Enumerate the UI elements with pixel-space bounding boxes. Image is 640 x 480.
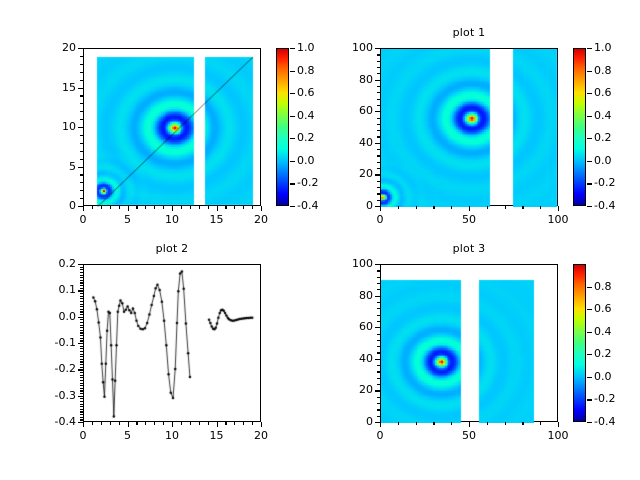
plot-3-image [381,265,559,423]
colorbar-tick [587,354,592,355]
plot-xtick-label: 5 [108,429,148,442]
plot-xtick-minor [83,422,84,425]
plot-ytick-minor [80,314,83,315]
colorbar-tick-label: 0.4 [297,109,315,122]
plot-ytick-minor [80,419,83,420]
plot-ytick-minor [377,384,380,385]
plot-ytick-minor [80,414,83,415]
plot-ytick-minor [80,159,83,160]
colorbar-tick [587,116,592,117]
plot-ytick-minor [80,280,83,281]
colorbar-tick [587,287,592,288]
colorbar-tick-label: 0.2 [594,347,612,360]
plot-ytick-minor [80,372,83,373]
plot-ytick-label: 0.0 [33,310,76,323]
plot-xtick-minor [252,206,253,209]
plot-ytick-minor [80,290,83,291]
colorbar-tick [587,422,592,423]
plot-1-colorbar[interactable] [573,48,586,206]
plot-ytick-minor [80,351,83,352]
plot-ytick-minor [80,375,83,376]
plot-xtick-minor [398,422,399,425]
plot-xtick-minor [163,206,164,209]
plot-ytick-minor [80,311,83,312]
colorbar-tick [587,183,592,184]
plot-xtick-minor [181,422,182,425]
plot-xtick-label: 10 [152,429,192,442]
plot-xtick-minor [261,422,262,425]
plot-ytick-label: 15 [33,81,76,94]
plot-xtick-label: 50 [449,429,489,442]
plot-ytick-label: 0.1 [33,283,76,296]
plot-ytick-minor [80,301,83,302]
plot-xtick-minor [416,422,417,425]
plot-xtick-minor [451,206,452,209]
colorbar-tick [290,48,295,49]
plot-ytick-label: -0.3 [33,389,76,402]
plot-1-axes[interactable] [380,48,558,206]
plot-ytick-minor [80,306,83,307]
plot-0-colorbar[interactable] [276,48,289,206]
plot-xtick-minor [433,422,434,425]
colorbar-tick-label: 0.6 [297,86,315,99]
plot-ytick-minor [80,88,83,89]
plot-3-axes[interactable] [380,264,558,422]
plot-xtick-minor [487,422,488,425]
plot-xtick-label: 15 [197,213,237,226]
colorbar-tick-label: -0.4 [297,199,318,212]
plot-ytick-minor [80,103,83,104]
plot-xtick-minor [234,422,235,425]
plot-xtick-minor [128,422,129,425]
plot-xtick-label: 0 [360,429,400,442]
plot-ytick-minor [377,289,380,290]
plot-2-title: plot 2 [83,242,261,255]
plot-ytick-label: 20 [330,383,373,396]
colorbar-tick [587,93,592,94]
figure-canvas: 0510152005101520 -0.4-0.20.00.20.40.60.8… [0,0,640,480]
plot-ytick-label: 0 [330,199,373,212]
plot-ytick-minor [377,118,380,119]
plot-xtick-label: 20 [241,429,281,442]
plot-ytick-label: 80 [330,73,373,86]
plot-xtick-minor [199,206,200,209]
plot-ytick-minor [377,327,380,328]
plot-ytick-minor [377,390,380,391]
plot-ytick-minor [80,288,83,289]
plot-ytick-minor [80,275,83,276]
plot-ytick-minor [80,198,83,199]
plot-ytick-minor [80,317,83,318]
colorbar-tick-label: 0.8 [594,280,612,293]
plot-ytick-minor [377,80,380,81]
plot-ytick-label: 0 [33,199,76,212]
plot-ytick-minor [80,367,83,368]
plot-ytick-minor [377,403,380,404]
plot-ytick-minor [377,155,380,156]
plot-xtick-minor [505,206,506,209]
colorbar-tick-label: -0.2 [594,392,615,405]
plot-xtick-minor [243,206,244,209]
plot-xtick-label: 20 [241,213,281,226]
plot-ytick-minor [377,193,380,194]
plot-xtick-minor [558,422,559,425]
plot-ytick-minor [80,309,83,310]
plot-ytick-minor [80,340,83,341]
plot-ytick-minor [80,422,83,423]
plot-ytick-minor [377,270,380,271]
plot-ytick-minor [377,174,380,175]
colorbar-tick-label: -0.2 [594,176,615,189]
plot-xtick-minor [225,206,226,209]
plot-ytick-minor [377,422,380,423]
colorbar-tick-label: 0.6 [594,86,612,99]
colorbar-tick [290,138,295,139]
plot-xtick-label: 15 [197,429,237,442]
plot-xtick-minor [190,422,191,425]
plot-xtick-minor [243,422,244,425]
plot-xtick-minor [136,206,137,209]
plot-ytick-minor [377,136,380,137]
plot-xtick-minor [469,206,470,209]
colorbar-tick-label: 0.0 [594,370,612,383]
plot-xtick-minor [190,206,191,209]
plot-ytick-minor [377,111,380,112]
colorbar-tick [587,399,592,400]
plot-ytick-minor [80,174,83,175]
plot-ytick-minor [377,409,380,410]
plot-ytick-label: 0.2 [33,257,76,270]
plot-xtick-minor [433,206,434,209]
plot-ytick-minor [377,187,380,188]
plot-xtick-minor [469,422,470,425]
plot-xtick-label: 50 [449,213,489,226]
colorbar-tick [587,71,592,72]
plot-xtick-label: 0 [360,213,400,226]
colorbar-tick-label: 0.4 [594,109,612,122]
plot-ytick-label: 0 [330,415,373,428]
plot-xtick-minor [380,206,381,209]
plot-ytick-minor [80,272,83,273]
plot-ytick-minor [80,282,83,283]
plot-xtick-minor [92,206,93,209]
plot-ytick-minor [80,409,83,410]
plot-xtick-minor [540,422,541,425]
plot-ytick-minor [80,393,83,394]
plot-ytick-minor [80,167,83,168]
plot-ytick-minor [80,72,83,73]
colorbar-tick [587,48,592,49]
plot-ytick-minor [80,364,83,365]
plot-ytick-label: 10 [33,120,76,133]
plot-ytick-minor [377,359,380,360]
plot-ytick-minor [377,321,380,322]
plot-ytick-minor [80,264,83,265]
plot-xtick-minor [145,422,146,425]
colorbar-tick-label: 0.6 [594,302,612,315]
plot-xtick-minor [234,206,235,209]
colorbar-tick-label: 0.8 [594,64,612,77]
plot-ytick-minor [80,359,83,360]
plot-xtick-minor [101,206,102,209]
plot-1-title: plot 1 [380,26,558,39]
plot-xtick-minor [487,206,488,209]
plot-ytick-minor [80,64,83,65]
plot-ytick-minor [80,348,83,349]
plot-ytick-minor [377,130,380,131]
plot-ytick-minor [80,111,83,112]
plot-ytick-minor [80,190,83,191]
plot-ytick-minor [80,319,83,320]
plot-ytick-minor [377,315,380,316]
subplot-top-left: 0510152005101520 -0.4-0.20.00.20.40.60.8… [0,0,320,240]
plot-ytick-label: 20 [330,167,373,180]
plot-ytick-minor [377,200,380,201]
plot-ytick-minor [377,61,380,62]
plot-xtick-minor [540,206,541,209]
plot-xtick-minor [110,422,111,425]
plot-xtick-minor [505,422,506,425]
plot-xtick-minor [398,206,399,209]
plot-ytick-minor [377,296,380,297]
plot-ytick-minor [80,206,83,207]
colorbar-tick [290,71,295,72]
plot-ytick-minor [80,325,83,326]
plot-xtick-minor [199,422,200,425]
colorbar-tick-label: 1.0 [594,41,612,54]
plot-0-image [84,49,262,207]
plot-ytick-minor [80,388,83,389]
colorbar-tick [290,161,295,162]
plot-3-colorbar[interactable] [573,264,586,422]
plot-ytick-minor [377,334,380,335]
plot-ytick-minor [377,67,380,68]
plot-ytick-minor [377,54,380,55]
plot-ytick-label: 60 [330,320,373,333]
plot-ytick-minor [377,378,380,379]
plot-xtick-minor [181,206,182,209]
plot-ytick-minor [80,296,83,297]
plot-ytick-minor [80,406,83,407]
plot-xtick-minor [522,206,523,209]
plot-ytick-minor [80,304,83,305]
plot-ytick-minor [80,322,83,323]
plot-ytick-minor [377,283,380,284]
colorbar-tick-label: -0.2 [297,176,318,189]
plot-ytick-minor [80,380,83,381]
colorbar-tick [587,377,592,378]
plot-xtick-minor [208,422,209,425]
plot-ytick-label: 100 [330,257,373,270]
colorbar-tick-label: 0.8 [297,64,315,77]
colorbar-tick [290,183,295,184]
plot-0-axes[interactable] [83,48,261,206]
plot-ytick-minor [80,95,83,96]
plot-ytick-minor [377,371,380,372]
plot-xtick-minor [92,422,93,425]
plot-ytick-minor [80,398,83,399]
plot-xtick-label: 100 [538,213,578,226]
plot-xtick-minor [261,206,262,209]
plot-ytick-minor [80,356,83,357]
plot-ytick-minor [377,340,380,341]
plot-ytick-minor [80,151,83,152]
plot-ytick-minor [80,335,83,336]
colorbar-tick-label: 0.4 [594,325,612,338]
plot-ytick-minor [80,330,83,331]
plot-ytick-minor [80,390,83,391]
plot-ytick-minor [377,264,380,265]
plot-xtick-label: 0 [63,213,103,226]
plot-ytick-minor [80,48,83,49]
plot-ytick-minor [377,352,380,353]
plot-ytick-minor [377,48,380,49]
plot-ytick-minor [80,343,83,344]
plot-ytick-minor [80,383,83,384]
plot-xtick-minor [119,206,120,209]
plot-ytick-minor [80,267,83,268]
plot-ytick-minor [80,327,83,328]
plot-ytick-minor [377,346,380,347]
plot-ytick-minor [80,346,83,347]
plot-ytick-minor [80,385,83,386]
plot-xtick-minor [154,422,155,425]
plot-ytick-minor [377,416,380,417]
plot-xtick-minor [154,206,155,209]
plot-ytick-minor [377,143,380,144]
plot-ytick-minor [377,162,380,163]
plot-ytick-minor [80,354,83,355]
plot-xtick-minor [208,206,209,209]
plot-ytick-minor [377,105,380,106]
plot-ytick-minor [377,308,380,309]
plot-ytick-minor [80,377,83,378]
colorbar-tick [587,206,592,207]
plot-xtick-label: 100 [538,429,578,442]
plot-ytick-label: -0.4 [33,415,76,428]
plot-3-title: plot 3 [380,242,558,255]
plot-ytick-label: 5 [33,160,76,173]
colorbar-tick [587,138,592,139]
plot-ytick-minor [377,302,380,303]
colorbar-tick [290,93,295,94]
plot-ytick-minor [80,338,83,339]
plot-ytick-minor [377,73,380,74]
plot-xtick-minor [119,422,120,425]
plot-ytick-minor [80,285,83,286]
plot-ytick-minor [80,417,83,418]
plot-xtick-label: 5 [108,213,148,226]
colorbar-tick-label: 0.2 [297,131,315,144]
plot-ytick-label: 80 [330,289,373,302]
plot-ytick-minor [80,369,83,370]
plot-ytick-label: 100 [330,41,373,54]
colorbar-tick-label: 1.0 [297,41,315,54]
plot-ytick-minor [80,143,83,144]
plot-xtick-minor [110,206,111,209]
plot-xtick-minor [101,422,102,425]
plot-ytick-label: -0.2 [33,362,76,375]
plot-ytick-label: 40 [330,136,373,149]
plot-xtick-minor [416,206,417,209]
colorbar-tick [587,161,592,162]
plot-ytick-minor [377,168,380,169]
plot-xtick-label: 0 [63,429,103,442]
plot-ytick-minor [377,365,380,366]
plot-xtick-minor [145,206,146,209]
plot-ytick-label: 40 [330,352,373,365]
plot-ytick-minor [80,401,83,402]
plot-xtick-minor [172,422,173,425]
plot-xtick-minor [163,422,164,425]
plot-xtick-minor [225,422,226,425]
plot-xtick-minor [558,206,559,209]
plot-ytick-minor [377,149,380,150]
plot-ytick-minor [377,181,380,182]
plot-ytick-minor [80,182,83,183]
subplot-bottom-right: plot 3 050100020406080100 -0.4-0.20.00.2… [320,240,640,480]
plot-xtick-minor [172,206,173,209]
plot-ytick-label: 60 [330,104,373,117]
colorbar-tick-label: -0.4 [594,199,615,212]
plot-ytick-minor [80,56,83,57]
colorbar-tick-label: 0.2 [594,131,612,144]
colorbar-tick [290,206,295,207]
plot-ytick-minor [80,361,83,362]
colorbar-tick [290,116,295,117]
plot-ytick-minor [377,124,380,125]
colorbar-tick-label: 0.0 [594,154,612,167]
plot-xtick-minor [217,422,218,425]
subplot-bottom-left: plot 2 05101520-0.4-0.3-0.2-0.10.00.10.2 [0,240,320,480]
plot-ytick-minor [80,127,83,128]
plot-ytick-minor [377,206,380,207]
plot-ytick-minor [80,332,83,333]
plot-ytick-minor [377,92,380,93]
plot-xtick-minor [522,422,523,425]
plot-xtick-minor [380,422,381,425]
plot-ytick-minor [80,293,83,294]
plot-ytick-minor [80,396,83,397]
plot-xtick-minor [136,422,137,425]
plot-ytick-label: -0.1 [33,336,76,349]
plot-ytick-minor [80,277,83,278]
colorbar-tick [587,309,592,310]
plot-ytick-minor [377,277,380,278]
plot-ytick-minor [80,135,83,136]
plot-ytick-minor [80,404,83,405]
plot-ytick-minor [80,411,83,412]
plot-xtick-minor [217,206,218,209]
plot-xtick-minor [252,422,253,425]
plot-2-axes[interactable] [83,264,261,422]
plot-ytick-minor [80,119,83,120]
subplot-top-right: plot 1 050100020406080100 -0.4-0.20.00.2… [320,0,640,240]
plot-ytick-minor [377,86,380,87]
plot-xtick-minor [83,206,84,209]
plot-ytick-minor [80,269,83,270]
plot-ytick-minor [80,80,83,81]
plot-1-image [381,49,559,207]
plot-ytick-label: 20 [33,41,76,54]
colorbar-tick-label: 0.0 [297,154,315,167]
colorbar-tick [587,332,592,333]
plot-ytick-minor [377,397,380,398]
plot-2-line-canvas [84,265,262,423]
plot-xtick-minor [128,206,129,209]
colorbar-tick-label: -0.4 [594,415,615,428]
plot-ytick-minor [377,99,380,100]
